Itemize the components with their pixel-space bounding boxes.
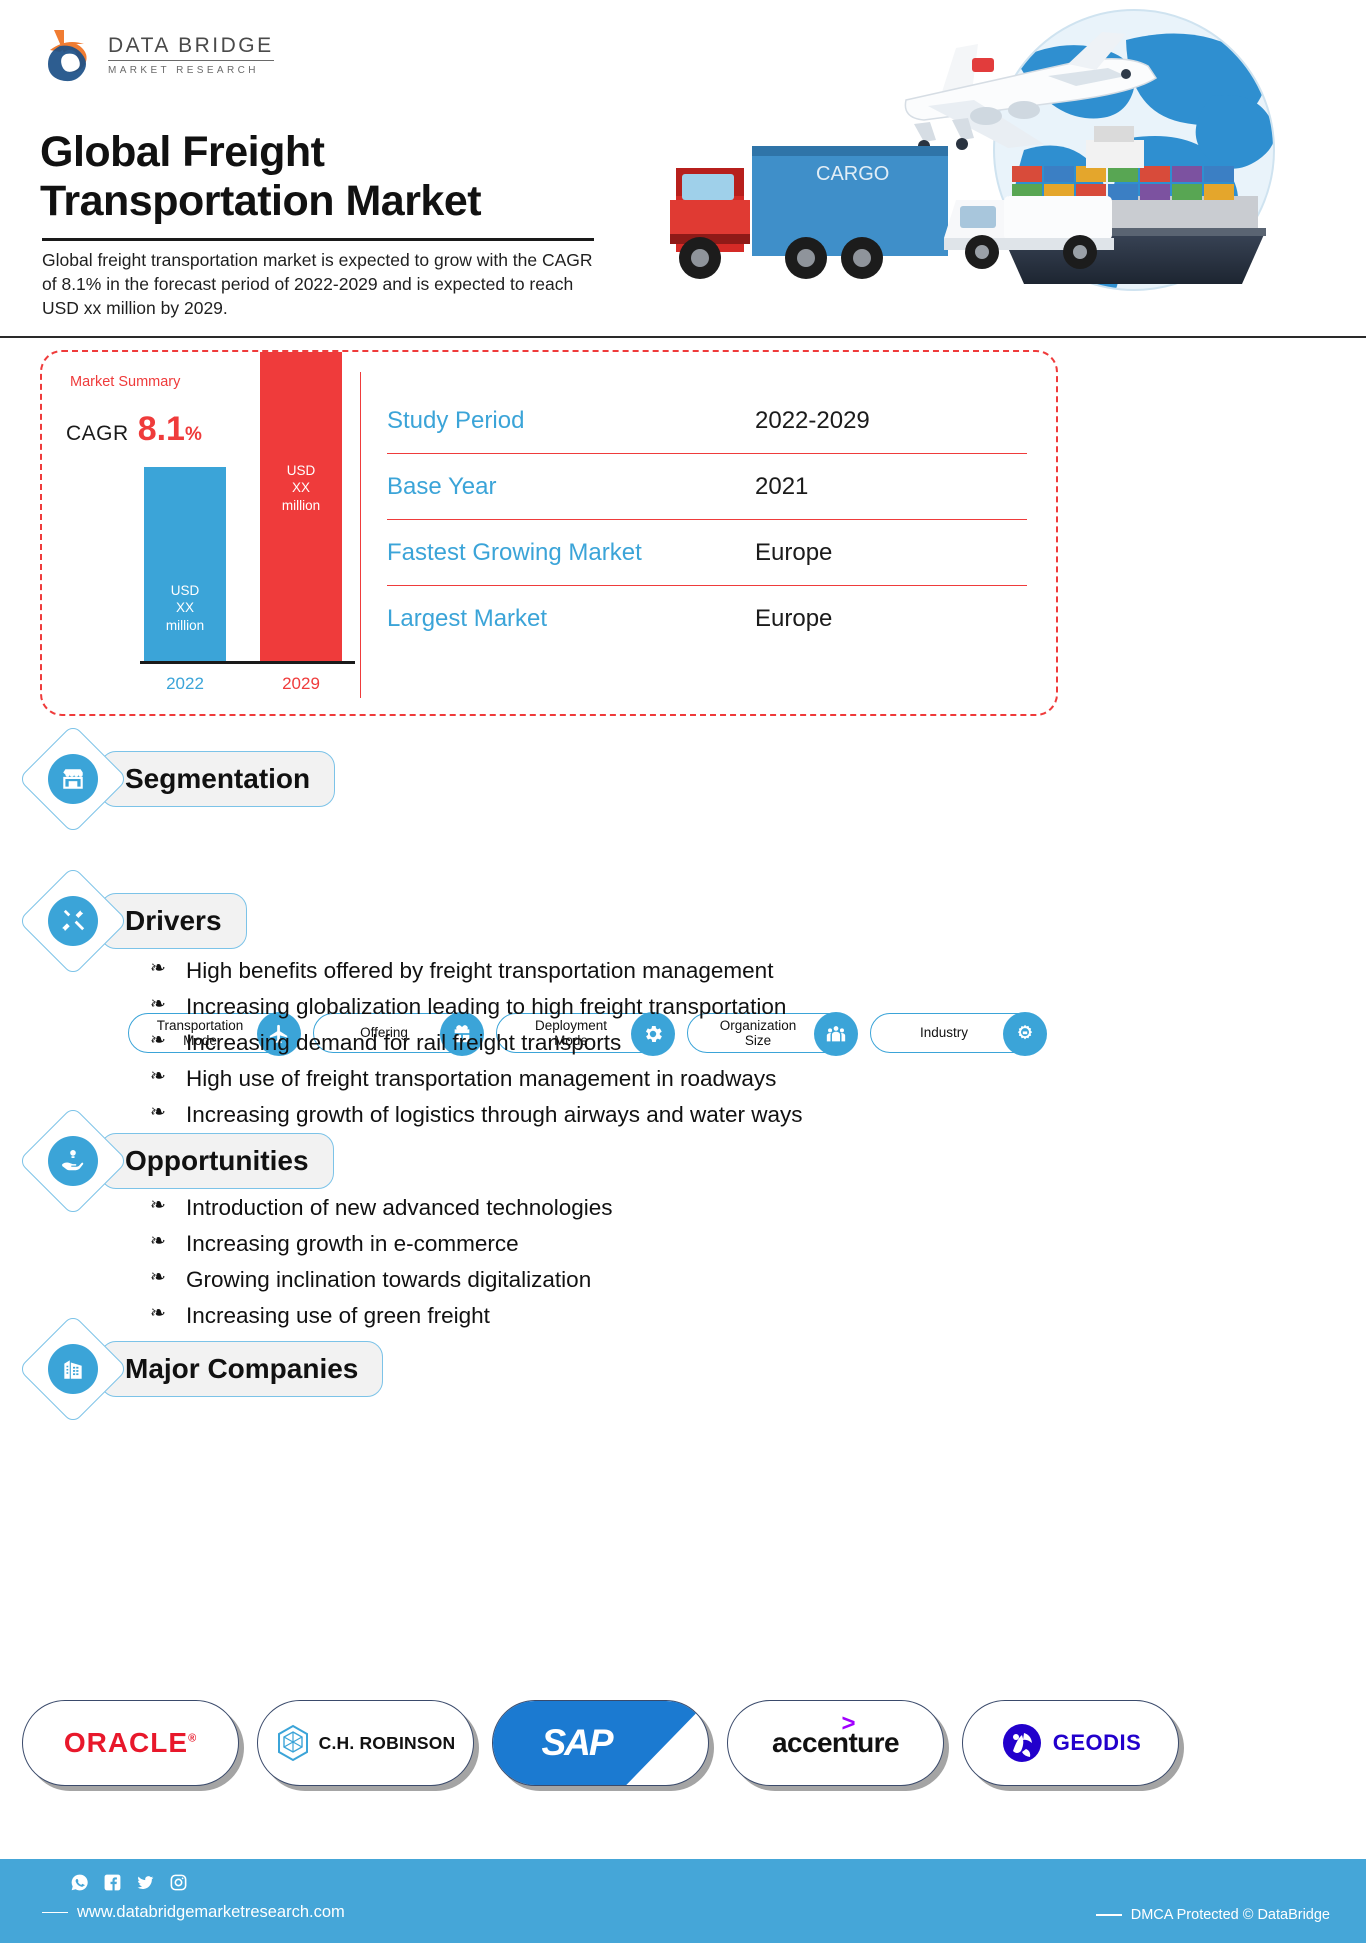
companies-label: Major Companies [100, 1341, 383, 1397]
drivers-diamond [18, 866, 128, 976]
bar-2022: USD XX million [144, 467, 226, 662]
row-key: Study Period [387, 407, 717, 435]
list-item: ❧ High use of freight transportation man… [150, 1065, 1150, 1092]
accenture-logo-text: accenture [772, 1727, 899, 1758]
segmentation-label: Segmentation [100, 751, 335, 807]
drivers-list: ❧ High benefits offered by freight trans… [150, 957, 1150, 1137]
footer-copyright-text: DMCA Protected © DataBridge [1131, 1907, 1330, 1923]
sap-logo-text: SAP [541, 1722, 611, 1764]
list-item: ❧ High benefits offered by freight trans… [150, 957, 1150, 984]
opportunities-list: ❧ Introduction of new advanced technolog… [150, 1194, 1150, 1338]
footer-dash-left [42, 1912, 68, 1914]
list-item: ❧ Increasing demand for rail freight tra… [150, 1029, 1150, 1056]
list-item: ❧ Introduction of new advanced technolog… [150, 1194, 1150, 1221]
companies-diamond [18, 1314, 128, 1424]
footer-website-url[interactable]: www.databridgemarketresearch.com [42, 1903, 345, 1922]
row-value: Europe [717, 539, 1027, 567]
bullet-diamond-icon: ❧ [150, 1302, 186, 1325]
card-vertical-divider [360, 372, 361, 698]
title-line-2: Transportation Market [40, 177, 481, 225]
market-summary-card: Market Summary CAGR 8.1 % USD XX million… [40, 350, 1058, 716]
cagr-value: 8.1 [138, 410, 185, 449]
footer-url-text: www.databridgemarketresearch.com [77, 1903, 345, 1922]
geodis-logo-text: GEODIS [1053, 1730, 1142, 1756]
list-item-text: Growing inclination towards digitalizati… [186, 1266, 591, 1293]
cagr-percent-sign: % [185, 424, 202, 446]
cagr-display: CAGR 8.1 % [66, 410, 202, 449]
company-logo-ch-robinson[interactable]: C.H. ROBINSON [257, 1700, 474, 1786]
companies-heading: Major Companies [34, 1330, 383, 1408]
list-item-text: Increasing growth in e-commerce [186, 1230, 519, 1257]
ch-robinson-hexagon-icon [276, 1724, 310, 1762]
list-item-text: Introduction of new advanced technologie… [186, 1194, 613, 1221]
accenture-arrow-icon: > [842, 1710, 855, 1738]
list-item-text: High benefits offered by freight transpo… [186, 957, 773, 984]
header-artwork: CARGO [656, 0, 1366, 318]
bullet-diamond-icon: ❧ [150, 1101, 186, 1124]
bullet-diamond-icon: ❧ [150, 1029, 186, 1052]
chart-axis-line [140, 661, 355, 664]
row-key: Largest Market [387, 605, 717, 633]
bar-2029: USD XX million [260, 352, 342, 662]
store-icon [48, 754, 98, 804]
row-value: 2022-2029 [717, 407, 1027, 435]
list-item: ❧ Increasing use of green freight [150, 1302, 1150, 1329]
list-item-text: Increasing use of green freight [186, 1302, 490, 1329]
logo-sub-text: MARKET RESEARCH [108, 65, 274, 76]
bar-2029-label: USD XX million [282, 463, 320, 513]
table-row: Base Year 2021 [387, 454, 1027, 520]
tools-icon [48, 896, 98, 946]
segmentation-diamond [18, 724, 128, 834]
opportunities-diamond [18, 1106, 128, 1216]
list-item-text: Increasing globalization leading to high… [186, 993, 786, 1020]
bullet-diamond-icon: ❧ [150, 1266, 186, 1289]
company-logo-sap[interactable]: SAP [492, 1700, 709, 1786]
oracle-logo-text: ORACLE [64, 1727, 188, 1758]
twitter-icon[interactable] [136, 1873, 155, 1897]
bullet-diamond-icon: ❧ [150, 1194, 186, 1217]
social-links [70, 1873, 188, 1897]
databridge-logo-mark [46, 26, 98, 84]
page-footer: www.databridgemarketresearch.com DMCA Pr… [0, 1859, 1366, 1943]
list-item: ❧ Growing inclination towards digitaliza… [150, 1266, 1150, 1293]
title-underline [42, 238, 594, 241]
drivers-heading: Drivers [34, 882, 247, 960]
table-row: Study Period 2022-2029 [387, 388, 1027, 454]
x-label-2029: 2029 [260, 674, 342, 694]
truck-illustration: CARGO [670, 146, 948, 279]
cagr-label: CAGR [66, 422, 129, 446]
opportunities-heading: Opportunities [34, 1122, 334, 1200]
bullet-diamond-icon: ❧ [150, 1065, 186, 1088]
oracle-registered-mark: ® [188, 1733, 197, 1745]
title-line-1: Global Freight [40, 128, 324, 176]
bar-2022-label: USD XX million [166, 583, 204, 633]
svg-text:CARGO: CARGO [816, 163, 889, 185]
list-item: ❧ Increasing globalization leading to hi… [150, 993, 1150, 1020]
page-title: Global Freight Transportation Market [40, 128, 610, 225]
facebook-icon[interactable] [103, 1873, 122, 1897]
hand-idea-icon [48, 1136, 98, 1186]
bullet-diamond-icon: ❧ [150, 1230, 186, 1253]
footer-dash-right [1096, 1914, 1122, 1916]
row-value: 2021 [717, 473, 1027, 501]
opportunities-label: Opportunities [100, 1133, 334, 1189]
market-summary-bar-chart: USD XX million USD XX million 2022 2029 [94, 462, 364, 702]
ch-robinson-logo-text: C.H. ROBINSON [319, 1733, 456, 1754]
bullet-diamond-icon: ❧ [150, 957, 186, 980]
brand-logo[interactable]: DATA BRIDGE MARKET RESEARCH [46, 26, 274, 84]
whatsapp-icon[interactable] [70, 1873, 89, 1897]
summary-key-value-table: Study Period 2022-2029 Base Year 2021 Fa… [387, 388, 1027, 652]
company-logos: ORACLE® C.H. ROBINSON SAP > accenture [22, 1700, 1179, 1786]
list-item-text: Increasing demand for rail freight trans… [186, 1029, 621, 1056]
x-label-2022: 2022 [144, 674, 226, 694]
row-value: Europe [717, 605, 1027, 633]
page-description: Global freight transportation market is … [42, 248, 602, 320]
page-header: CARGO DATA BRIDGE MARKET RESEARCH [0, 0, 1366, 338]
segmentation-heading: Segmentation [34, 740, 335, 818]
footer-copyright: DMCA Protected © DataBridge [1096, 1907, 1330, 1923]
geodis-emblem-icon [1000, 1721, 1044, 1765]
building-icon [48, 1344, 98, 1394]
market-summary-label: Market Summary [70, 374, 180, 390]
company-logo-oracle[interactable]: ORACLE® [22, 1700, 239, 1786]
company-logo-accenture[interactable]: > accenture [727, 1700, 944, 1786]
list-item-text: High use of freight transportation manag… [186, 1065, 776, 1092]
logo-main-text: DATA BRIDGE [108, 34, 274, 61]
instagram-icon[interactable] [169, 1873, 188, 1897]
row-key: Fastest Growing Market [387, 539, 717, 567]
bullet-diamond-icon: ❧ [150, 993, 186, 1016]
row-key: Base Year [387, 473, 717, 501]
list-item: ❧ Increasing growth in e-commerce [150, 1230, 1150, 1257]
company-logo-geodis[interactable]: GEODIS [962, 1700, 1179, 1786]
table-row: Fastest Growing Market Europe [387, 520, 1027, 586]
table-row: Largest Market Europe [387, 586, 1027, 652]
